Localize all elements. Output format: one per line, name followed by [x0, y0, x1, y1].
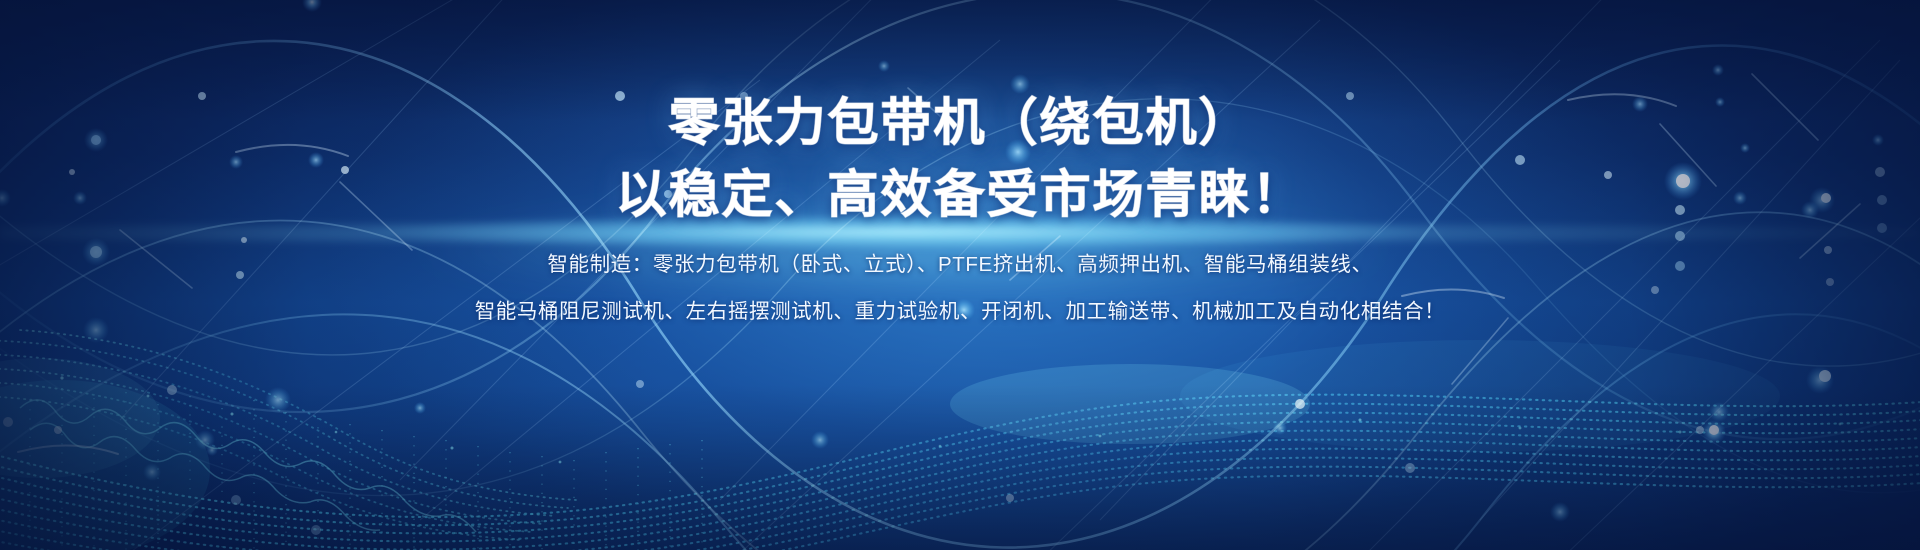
subtitle-line-1: 智能制造：零张力包带机（卧式、立式）、PTFE挤出机、高频押出机、智能马桶组装线… — [547, 253, 1372, 278]
hero-banner: 零张力包带机（绕包机） 以稳定、高效备受市场青睐！ 智能制造：零张力包带机（卧式… — [0, 0, 1920, 550]
headline-line-1: 零张力包带机（绕包机） — [668, 92, 1251, 154]
headline-line-2: 以稳定、高效备受市场青睐！ — [615, 164, 1304, 226]
banner-content: 零张力包带机（绕包机） 以稳定、高效备受市场青睐！ 智能制造：零张力包带机（卧式… — [0, 0, 1920, 550]
subtitle-line-2: 智能马桶阻尼测试机、左右摇摆测试机、重力试验机、开闭机、加工输送带、机械加工及自… — [475, 300, 1446, 325]
